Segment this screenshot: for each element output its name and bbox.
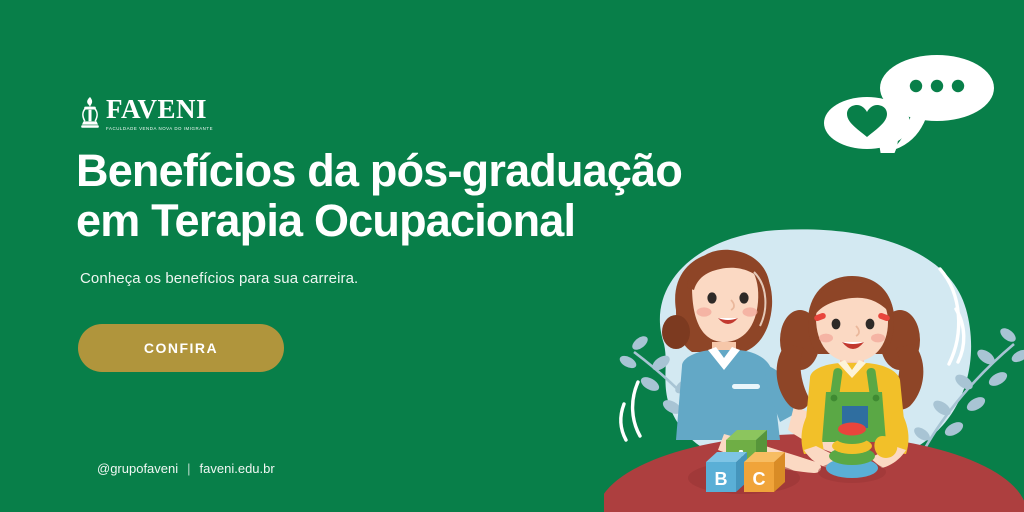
subheadline: Conheça os benefícios para sua carreira. [80,270,358,287]
social-handle[interactable]: @grupofaveni [97,461,178,476]
block-c: C [744,452,785,492]
logo-wordmark: FAVENI [106,96,213,123]
faveni-logo[interactable]: FAVENI FACULDADE VENDA NOVA DO IMIGRANTE [79,96,213,132]
website-link[interactable]: faveni.edu.br [200,461,275,476]
svg-text:C: C [753,469,766,489]
occupational-therapy-illustration: A B C [604,214,1024,512]
speech-bubbles-decoration [820,48,1000,153]
logo-tagline: FACULDADE VENDA NOVA DO IMIGRANTE [106,126,213,131]
footer-separator: | [187,461,190,476]
headline-line-2: em Terapia Ocupacional [76,195,575,246]
headline-line-1: Benefícios da pós-graduação [76,145,682,196]
faveni-torch-emblem-icon [79,96,101,135]
faveni-promo-banner: FAVENI FACULDADE VENDA NOVA DO IMIGRANTE… [0,0,1024,512]
block-b: B [706,452,747,492]
confira-cta-button[interactable]: CONFIRA [78,324,284,372]
speech-bubble-heart-icon [824,97,910,153]
footer-contact: @grupofaveni | faveni.edu.br [97,461,275,476]
svg-text:B: B [715,469,728,489]
